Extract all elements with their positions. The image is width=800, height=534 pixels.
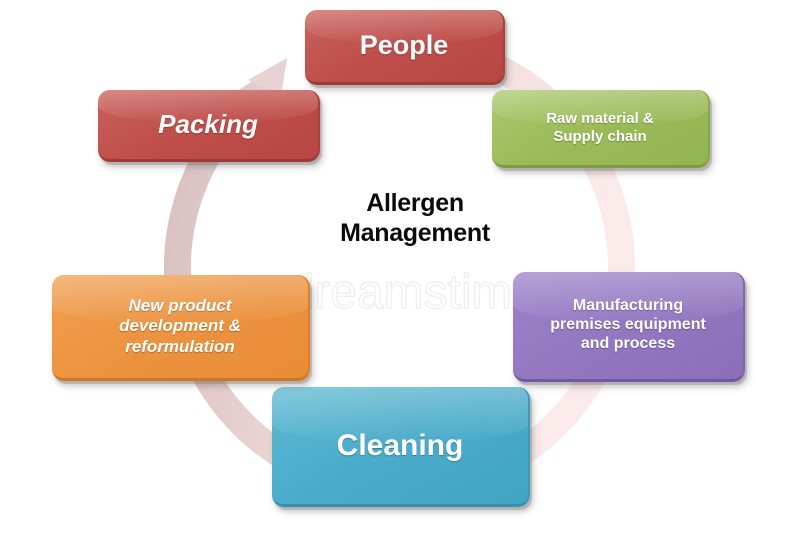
node-new-product-development[interactable]: New product development & reformulation: [52, 275, 310, 381]
node-raw-material-line-2: Supply chain: [553, 128, 646, 145]
node-npd-line-2: development &: [119, 316, 241, 335]
node-npd-line-1: New product: [129, 296, 232, 315]
allergen-management-cycle-diagram: Allergen Management dreamstime People Ra…: [0, 0, 800, 534]
node-people-label: People: [360, 30, 449, 62]
node-raw-material-label: Raw material & Supply chain: [546, 110, 654, 145]
node-manufacturing-line-2: premises equipment: [550, 316, 706, 333]
node-manufacturing-premises[interactable]: Manufacturing premises equipment and pro…: [513, 272, 745, 382]
node-people[interactable]: People: [305, 10, 505, 85]
node-packing[interactable]: Packing: [98, 90, 320, 162]
node-npd-line-3: reformulation: [125, 337, 235, 356]
center-title-line-1: Allergen: [290, 188, 540, 218]
node-manufacturing-line-1: Manufacturing: [573, 297, 683, 314]
node-raw-material-line-1: Raw material &: [546, 110, 654, 127]
node-manufacturing-label: Manufacturing premises equipment and pro…: [550, 297, 706, 354]
node-packing-label: Packing: [158, 109, 258, 140]
node-raw-material-supply-chain[interactable]: Raw material & Supply chain: [492, 90, 710, 168]
node-cleaning[interactable]: Cleaning: [272, 387, 530, 507]
node-cleaning-label: Cleaning: [337, 428, 464, 463]
node-manufacturing-line-3: and process: [581, 335, 675, 352]
center-title: Allergen Management: [290, 188, 540, 248]
center-title-line-2: Management: [290, 218, 540, 248]
node-npd-label: New product development & reformulation: [119, 296, 241, 356]
